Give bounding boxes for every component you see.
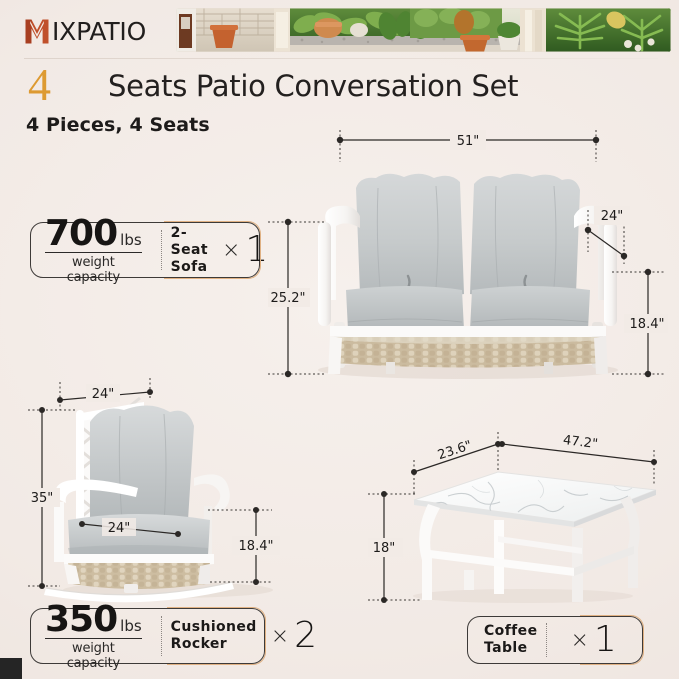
- badge-coffee-table: Coffee Table × 1: [467, 616, 643, 664]
- logo-wordmark: IXPATIO: [52, 18, 146, 45]
- dim-rocker-arm-height: 18.4": [208, 507, 280, 585]
- title-seat-count: 4: [28, 60, 51, 110]
- badge-rocker-item-name: Cushioned Rocker: [171, 619, 257, 653]
- dim-rocker-height-label: 35": [31, 491, 54, 506]
- dim-sofa-depth-label: 24": [601, 209, 624, 224]
- dim-sofa-width-label: 51": [457, 134, 480, 149]
- coffee-table-illustration: 23.6" 47.2" 18": [368, 424, 668, 609]
- dim-sofa-width: 51": [337, 130, 599, 162]
- brand-logo: IXPATIO: [24, 16, 146, 46]
- dim-sofa-arm-label: 18.4": [630, 317, 665, 332]
- page-header: IXPATIO: [0, 0, 679, 60]
- badge-sofa-capacity-value: 700: [45, 216, 117, 252]
- badge-table-multiply-icon: ×: [570, 628, 588, 653]
- badge-table-quantity: 1: [594, 622, 635, 658]
- badge-rocker-capacity: 350 lbs weight capacity: [31, 602, 152, 671]
- badge-rocker: 350 lbs weight capacity Cushioned Rocker…: [30, 608, 265, 664]
- page-subtitle: 4 Pieces, 4 Seats: [26, 114, 210, 136]
- badge-rocker-multiply-icon: ×: [271, 624, 289, 649]
- dim-table-length-label: 47.2": [562, 433, 599, 452]
- dim-rocker-depth-label: 24": [108, 521, 131, 536]
- dim-table-depth-label: 23.6": [436, 438, 474, 463]
- rocker-illustration: 24" 35" 24": [28, 378, 298, 603]
- badge-rocker-capacity-value: 350: [45, 602, 117, 638]
- corner-registration-mark: [0, 658, 22, 679]
- dim-sofa-arm-height: 18.4": [612, 269, 668, 377]
- badge-sofa-divider: [161, 230, 162, 270]
- badge-sofa-capacity: 700 lbs weight capacity: [31, 216, 152, 285]
- dim-table-height-label: 18": [373, 541, 396, 556]
- badge-sofa-capacity-unit: lbs: [120, 231, 142, 249]
- badge-table-divider: [546, 623, 547, 657]
- badge-rocker-divider: [161, 616, 162, 656]
- badge-sofa: 700 lbs weight capacity 2-Seat Sofa × 1: [30, 222, 260, 278]
- badge-rocker-quantity: 2: [294, 618, 335, 654]
- header-divider-rule: [24, 58, 658, 59]
- sofa-illustration: 51" 25.2" 24": [268, 126, 668, 386]
- badge-sofa-capacity-label: weight capacity: [45, 253, 142, 285]
- page-title: Seats Patio Conversation Set: [108, 64, 518, 108]
- dim-rocker-width-label: 24": [92, 387, 115, 402]
- badge-rocker-capacity-label: weight capacity: [45, 639, 142, 671]
- m-monogram-icon: [24, 18, 50, 45]
- badge-table-item-name: Coffee Table: [468, 623, 537, 657]
- title-row: 4 Seats Patio Conversation Set: [24, 62, 664, 112]
- infographic-page: IXPATIO: [0, 0, 679, 679]
- dim-sofa-height-label: 25.2": [271, 291, 306, 306]
- header-banner-photo: [176, 8, 671, 52]
- badge-sofa-quantity: 1: [245, 232, 286, 268]
- dim-rocker-arm-label: 18.4": [239, 539, 274, 554]
- badge-sofa-item-name: 2-Seat Sofa: [171, 225, 208, 276]
- badge-rocker-capacity-unit: lbs: [120, 617, 142, 635]
- badge-sofa-multiply-icon: ×: [222, 238, 240, 263]
- dim-table-height: 18": [368, 491, 420, 603]
